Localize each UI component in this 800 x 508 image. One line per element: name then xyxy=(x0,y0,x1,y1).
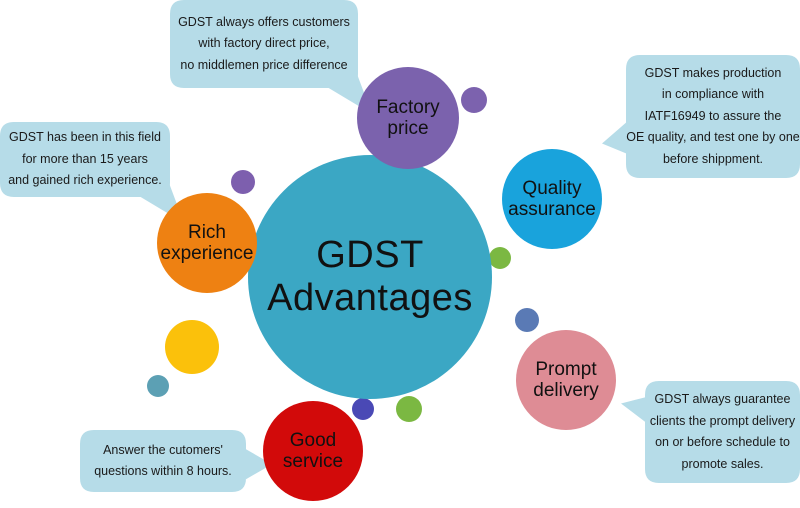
dot-teal-lower-left xyxy=(147,375,169,397)
prompt-delivery-circle[interactable] xyxy=(516,330,616,430)
dot-green-right-of-center xyxy=(489,247,511,269)
good-service-circle[interactable] xyxy=(263,401,363,501)
dot-yellow-lower-left xyxy=(165,320,219,374)
quality-assurance-circle[interactable] xyxy=(502,149,602,249)
rich-experience-circle[interactable] xyxy=(157,193,257,293)
factory-price-circle[interactable] xyxy=(357,67,459,169)
diagram-shapes-layer xyxy=(0,0,800,508)
callout-quality-assurance xyxy=(602,55,800,178)
dot-green-bottom xyxy=(396,396,422,422)
dot-blue-violet-bottom xyxy=(352,398,374,420)
callout-factory-price xyxy=(170,0,372,114)
callout-good-service xyxy=(80,430,272,492)
dot-purple-right-of-factory xyxy=(461,87,487,113)
callout-prompt-delivery xyxy=(621,381,800,483)
callout-rich-experience xyxy=(0,122,184,223)
dot-purple-upper-left xyxy=(231,170,255,194)
advantages-infographic: GDST always offers customerswith factory… xyxy=(0,0,800,508)
dot-slate-above-prompt xyxy=(515,308,539,332)
gdst-advantages-circle[interactable] xyxy=(248,155,492,399)
